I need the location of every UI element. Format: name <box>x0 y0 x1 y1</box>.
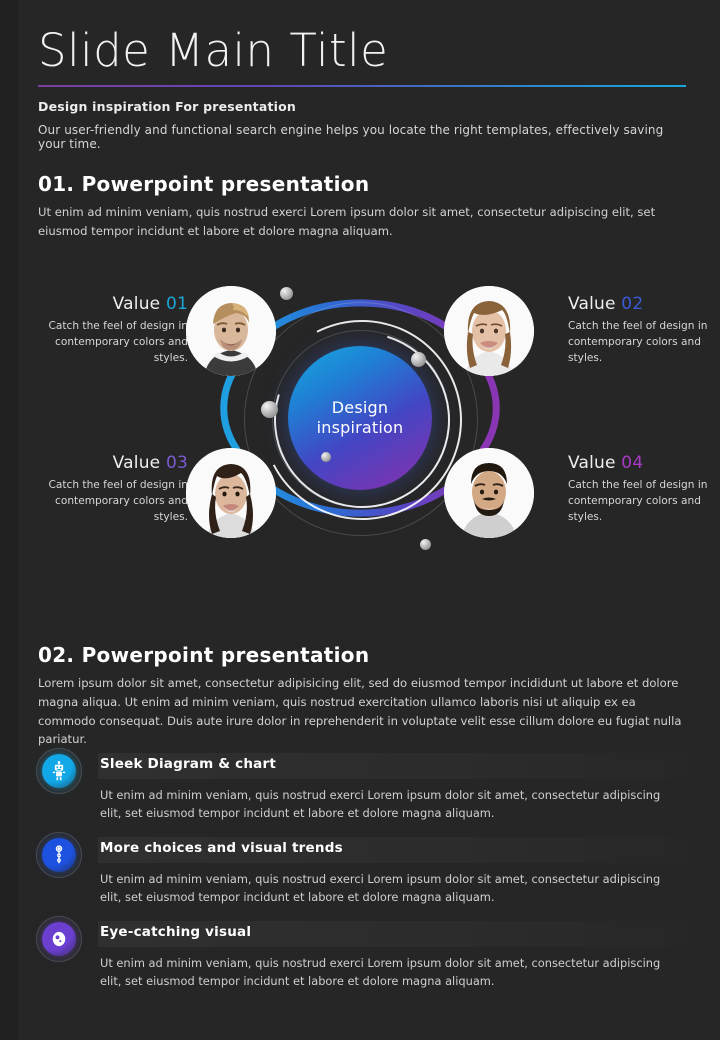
feature-desc-1: Ut enim ad minim veniam, quis nostrud ex… <box>100 786 670 822</box>
value-label-02: Value <box>568 294 616 314</box>
feature-desc-2: Ut enim ad minim veniam, quis nostrud ex… <box>100 870 670 906</box>
value-block-03: Value 03 Catch the feel of design in con… <box>38 451 188 525</box>
diagram-core: Design inspiration <box>288 346 432 490</box>
value-title-03: Value 03 <box>38 451 188 476</box>
value-title-01: Value 01 <box>38 292 188 317</box>
slide-header: Slide Main Title Design inspiration For … <box>38 26 686 151</box>
orbit-dot <box>280 287 293 300</box>
value-desc-04: Catch the feel of design in contemporary… <box>568 478 718 525</box>
left-edge-strip <box>0 0 18 1040</box>
orbit-diagram: Design inspiration <box>180 258 540 558</box>
value-number-04: 04 <box>621 453 643 473</box>
feature-icon-badge-3 <box>36 916 82 962</box>
list-item[interactable]: More choices and visual trends Ut enim a… <box>36 832 688 910</box>
value-title-02: Value 02 <box>568 292 718 317</box>
value-desc-03: Catch the feel of design in contemporary… <box>38 478 188 525</box>
microscope-icon <box>42 838 76 872</box>
core-label: Design inspiration <box>317 398 404 438</box>
feature-title-2: More choices and visual trends <box>100 840 343 856</box>
slide-subtitle: Design inspiration For presentation <box>38 99 686 114</box>
avatar-woman-dark <box>186 448 276 538</box>
value-desc-01: Catch the feel of design in contemporary… <box>38 319 188 366</box>
orbit-dot <box>411 352 426 367</box>
list-item[interactable]: Sleek Diagram & chart Ut enim ad minim v… <box>36 748 688 826</box>
core-label-line2: inspiration <box>317 418 404 438</box>
title-divider <box>38 85 686 87</box>
orbit-dot <box>261 401 278 418</box>
slide-root: Slide Main Title Design inspiration For … <box>0 0 720 1040</box>
feature-title-3: Eye-catching visual <box>100 924 251 940</box>
value-label-03: Value <box>113 453 161 473</box>
value-label-04: Value <box>568 453 616 473</box>
list-item[interactable]: Eye-catching visual Ut enim ad minim ven… <box>36 916 688 994</box>
section-2-heading: 02. Powerpoint presentation <box>38 643 369 667</box>
section-1-heading: 01. Powerpoint presentation <box>38 172 369 196</box>
value-block-04: Value 04 Catch the feel of design in con… <box>568 451 718 525</box>
section-2-body: Lorem ipsum dolor sit amet, consectetur … <box>38 674 686 749</box>
slide-lede-text: Our user-friendly and functional search … <box>38 123 686 151</box>
eye-icon <box>42 922 76 956</box>
orbit-dot <box>321 452 331 462</box>
value-block-02: Value 02 Catch the feel of design in con… <box>568 292 718 366</box>
feature-icon-badge-2 <box>36 832 82 878</box>
section-1-body: Ut enim ad minim veniam, quis nostrud ex… <box>38 203 683 241</box>
feature-icon-badge-1 <box>36 748 82 794</box>
feature-desc-3: Ut enim ad minim veniam, quis nostrud ex… <box>100 954 670 990</box>
value-block-01: Value 01 Catch the feel of design in con… <box>38 292 188 366</box>
value-number-02: 02 <box>621 294 643 314</box>
value-desc-02: Catch the feel of design in contemporary… <box>568 319 718 366</box>
value-title-04: Value 04 <box>568 451 718 476</box>
feature-title-1: Sleek Diagram & chart <box>100 756 276 772</box>
value-label-01: Value <box>113 294 161 314</box>
avatar-man-blond <box>186 286 276 376</box>
page-title: Slide Main Title <box>38 26 686 76</box>
core-label-line1: Design <box>317 398 404 418</box>
robot-icon <box>42 754 76 788</box>
orbit-dot <box>420 539 431 550</box>
avatar-woman-light <box>444 286 534 376</box>
avatar-man-beard <box>444 448 534 538</box>
